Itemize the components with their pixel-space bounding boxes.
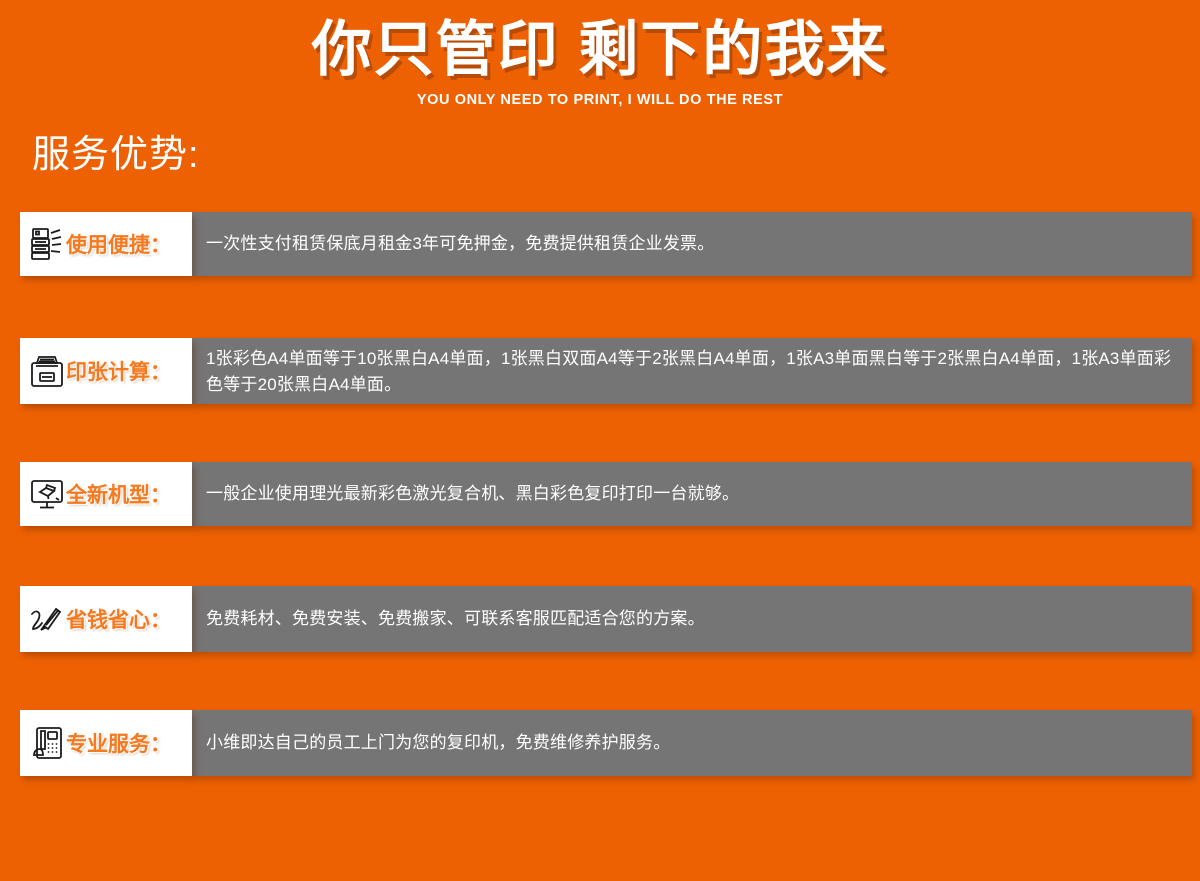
advantage-body-block: 免费耗材、免费安装、免费搬家、可联系客服匹配适合您的方案。 (192, 586, 1192, 652)
advantage-label: 全新机型： (66, 479, 171, 509)
advantage-row: 省钱省心： 免费耗材、免费安装、免费搬家、可联系客服匹配适合您的方案。 (20, 586, 1192, 652)
telephone-icon (26, 722, 68, 764)
advantage-label: 印张计算： (66, 356, 171, 386)
page-subtitle: YOU ONLY NEED TO PRINT, I WILL DO THE RE… (0, 92, 1200, 108)
advantage-row: 印张计算： 1张彩色A4单面等于10张黑白A4单面，1张黑白双面A4等于2张黑白… (20, 338, 1192, 404)
advantage-text: 1张彩色A4单面等于10张黑白A4单面，1张黑白双面A4等于2张黑白A4单面，1… (206, 346, 1178, 399)
monitor-new-model-icon (26, 473, 68, 515)
advantage-label: 专业服务： (66, 728, 171, 758)
advantage-row: 使用便捷： 一次性支付租赁保底月租金3年可免押金，免费提供租赁企业发票。 (20, 212, 1192, 276)
advantage-body-block: 一般企业使用理光最新彩色激光复合机、黑白彩色复印打印一台就够。 (192, 462, 1192, 526)
advantage-label-block: 印张计算： (20, 338, 192, 404)
advantage-row: 专业服务： 小维即达自己的员工上门为您的复印机，免费维修养护服务。 (20, 710, 1192, 776)
hero-banner: 你只管印 剩下的我来 YOU ONLY NEED TO PRINT, I WIL… (0, 0, 1200, 108)
advantage-text: 免费耗材、免费安装、免费搬家、可联系客服匹配适合您的方案。 (206, 606, 705, 632)
advantage-label: 使用便捷： (66, 229, 171, 259)
advantage-label-block: 全新机型： (20, 462, 192, 526)
page-title: 你只管印 剩下的我来 (0, 16, 1200, 83)
paper-tray-printer-icon (26, 350, 68, 392)
advantage-label-block: 使用便捷： (20, 212, 192, 276)
advantage-label-block: 省钱省心： (20, 586, 192, 652)
copier-icon (26, 223, 68, 265)
section-heading: 服务优势: (32, 136, 1200, 174)
advantage-body-block: 小维即达自己的员工上门为您的复印机，免费维修养护服务。 (192, 710, 1192, 776)
advantage-label: 省钱省心： (66, 604, 171, 634)
advantage-text: 一般企业使用理光最新彩色激光复合机、黑白彩色复印打印一台就够。 (206, 481, 739, 507)
advantage-row: 全新机型： 一般企业使用理光最新彩色激光复合机、黑白彩色复印打印一台就够。 (20, 462, 1192, 526)
advantage-body-block: 一次性支付租赁保底月租金3年可免押金，免费提供租赁企业发票。 (192, 212, 1192, 276)
advantage-text: 一次性支付租赁保底月租金3年可免押金，免费提供租赁企业发票。 (206, 231, 714, 257)
advantage-body-block: 1张彩色A4单面等于10张黑白A4单面，1张黑白双面A4等于2张黑白A4单面，1… (192, 338, 1192, 404)
advantage-label-block: 专业服务： (20, 710, 192, 776)
advantage-text: 小维即达自己的员工上门为您的复印机，免费维修养护服务。 (206, 730, 670, 756)
pen-writing-icon (26, 598, 68, 640)
